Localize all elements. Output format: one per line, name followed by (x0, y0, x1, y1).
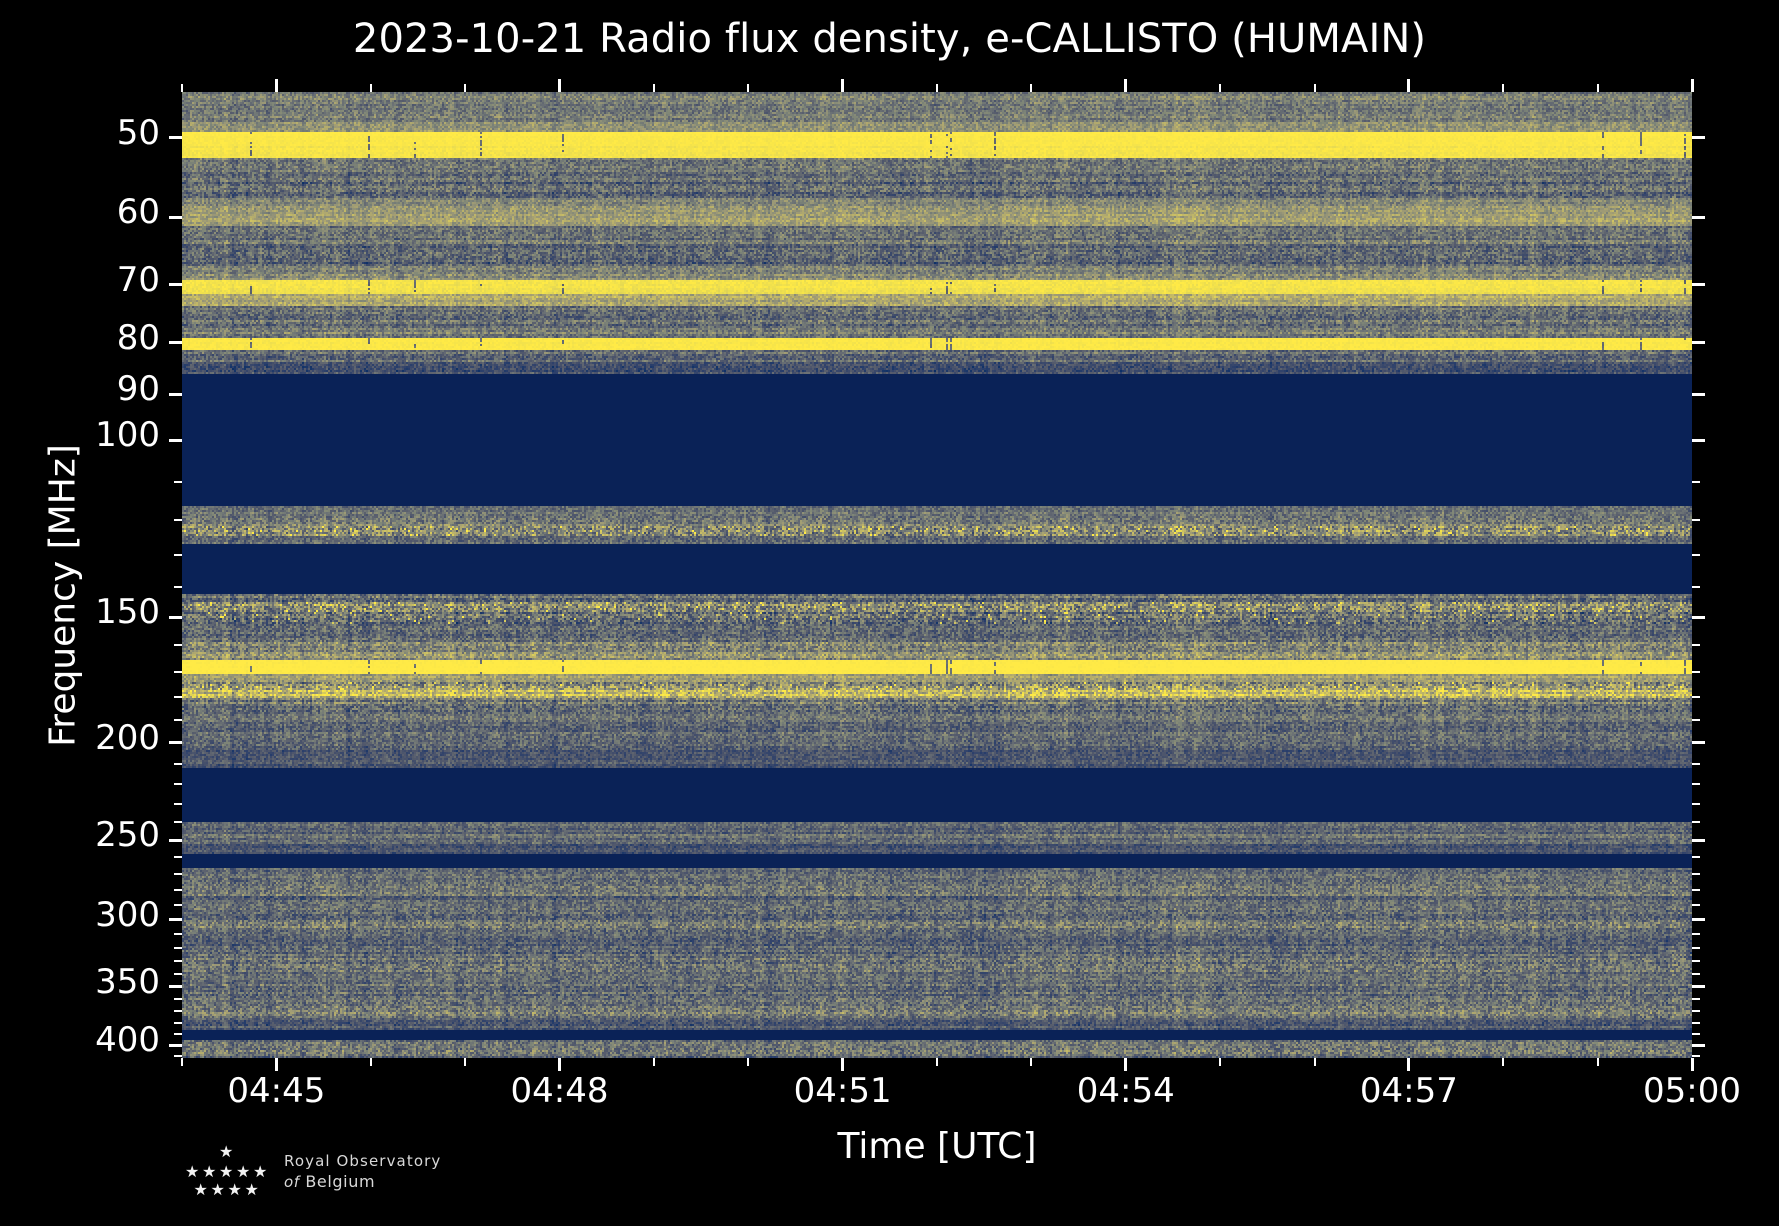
y-minor-tick-right-110 (1692, 481, 1700, 483)
y-minor-tick-right-180 (1692, 696, 1700, 698)
y-tick-label-400: 400 (95, 1023, 160, 1057)
y-tick-right-200 (1692, 741, 1705, 744)
x-minor-tick-top-04:47 (464, 84, 466, 92)
y-minor-tick-right-160 (1692, 644, 1700, 646)
x-minor-tick-04:59 (1597, 1058, 1599, 1066)
y-minor-tick-right-370 (1692, 1010, 1700, 1012)
x-minor-tick-top-04:44 (181, 84, 183, 92)
y-minor-tick-160 (174, 644, 182, 646)
y-tick-50 (169, 136, 182, 139)
y-minor-tick-330 (174, 960, 182, 962)
page-title: 2023-10-21 Radio flux density, e-CALLIST… (0, 16, 1779, 62)
x-minor-tick-04:44 (181, 1058, 183, 1066)
y-minor-tick-120 (174, 519, 182, 521)
y-minor-tick-right-240 (1692, 821, 1700, 823)
x-minor-tick-04:46 (370, 1058, 372, 1066)
y-minor-tick-right-270 (1692, 873, 1700, 875)
logo-of-word: of (284, 1173, 300, 1191)
eu-stars-icon: ★★★★★★★★★★ (178, 1144, 270, 1200)
x-minor-tick-04:56 (1314, 1058, 1316, 1066)
star-icon: ★ (253, 1164, 267, 1180)
x-minor-tick-top-04:49 (653, 84, 655, 92)
y-tick-label-150: 150 (95, 595, 160, 629)
y-minor-tick-right-210 (1692, 763, 1700, 765)
x-tick-top-04:54 (1124, 79, 1127, 92)
y-tick-label-350: 350 (95, 965, 160, 999)
star-icon: ★ (185, 1164, 199, 1180)
x-minor-tick-top-04:58 (1502, 84, 1504, 92)
y-tick-250 (169, 839, 182, 842)
y-minor-tick-right-120 (1692, 519, 1700, 521)
y-tick-200 (169, 741, 182, 744)
y-minor-tick-right-170 (1692, 671, 1700, 673)
x-minor-tick-top-04:52 (936, 84, 938, 92)
star-icon: ★ (219, 1144, 233, 1160)
y-tick-label-50: 50 (117, 116, 160, 150)
x-tick-top-04:48 (558, 79, 561, 92)
y-minor-tick-right-140 (1692, 586, 1700, 588)
y-minor-tick-370 (174, 1010, 182, 1012)
y-minor-tick-130 (174, 554, 182, 556)
x-tick-label-04:51: 04:51 (753, 1074, 933, 1108)
y-tick-right-80 (1692, 341, 1705, 344)
logo-belgium-word: Belgium (305, 1172, 375, 1191)
x-tick-label-04:54: 04:54 (1036, 1074, 1216, 1108)
x-tick-label-04:48: 04:48 (470, 1074, 650, 1108)
y-minor-tick-right-280 (1692, 889, 1700, 891)
star-icon: ★ (228, 1182, 242, 1198)
y-tick-label-250: 250 (95, 818, 160, 852)
x-tick-04:48 (558, 1058, 561, 1071)
x-minor-tick-top-04:55 (1219, 84, 1221, 92)
y-tick-right-150 (1692, 616, 1705, 619)
y-tick-label-60: 60 (117, 195, 160, 229)
y-minor-tick-right-360 (1692, 998, 1700, 1000)
y-minor-tick-right-130 (1692, 554, 1700, 556)
x-tick-top-04:45 (275, 79, 278, 92)
y-minor-tick-110 (174, 481, 182, 483)
x-minor-tick-04:47 (464, 1058, 466, 1066)
y-tick-label-100: 100 (95, 418, 160, 452)
y-tick-right-300 (1692, 918, 1705, 921)
y-tick-label-90: 90 (117, 372, 160, 406)
y-minor-tick-180 (174, 696, 182, 698)
y-minor-tick-360 (174, 998, 182, 1000)
x-minor-tick-04:52 (936, 1058, 938, 1066)
x-tick-top-04:51 (841, 79, 844, 92)
x-tick-05:00 (1691, 1058, 1694, 1071)
spectrogram-image[interactable] (182, 92, 1692, 1058)
spectrogram-axes[interactable] (182, 92, 1692, 1058)
y-tick-right-400 (1692, 1044, 1705, 1047)
x-tick-top-04:57 (1407, 79, 1410, 92)
y-tick-100 (169, 439, 182, 442)
y-tick-right-60 (1692, 216, 1705, 219)
royal-observatory-logo: ★★★★★★★★★★ Royal Observatory of Belgium (178, 1144, 441, 1200)
y-tick-90 (169, 393, 182, 396)
logo-text: Royal Observatory of Belgium (284, 1152, 441, 1193)
y-minor-tick-390 (174, 1033, 182, 1035)
y-axis-title: Frequency [MHz] (43, 113, 84, 1079)
y-tick-label-200: 200 (95, 721, 160, 755)
x-minor-tick-04:58 (1502, 1058, 1504, 1066)
y-minor-tick-230 (174, 803, 182, 805)
x-minor-tick-04:49 (653, 1058, 655, 1066)
y-minor-tick-right-410 (1692, 1055, 1700, 1057)
y-minor-tick-right-310 (1692, 933, 1700, 935)
y-minor-tick-right-230 (1692, 803, 1700, 805)
x-tick-04:54 (1124, 1058, 1127, 1071)
logo-line-2: of Belgium (284, 1172, 441, 1191)
y-minor-tick-240 (174, 821, 182, 823)
y-minor-tick-290 (174, 904, 182, 906)
star-icon: ★ (211, 1182, 225, 1198)
y-minor-tick-210 (174, 763, 182, 765)
y-minor-tick-220 (174, 783, 182, 785)
y-tick-300 (169, 918, 182, 921)
y-tick-80 (169, 341, 182, 344)
y-tick-right-50 (1692, 136, 1705, 139)
x-minor-tick-top-04:50 (747, 84, 749, 92)
y-minor-tick-270 (174, 873, 182, 875)
y-tick-right-90 (1692, 393, 1705, 396)
y-minor-tick-410 (174, 1055, 182, 1057)
y-minor-tick-right-220 (1692, 783, 1700, 785)
y-tick-150 (169, 616, 182, 619)
logo-line-1: Royal Observatory (284, 1152, 441, 1170)
y-tick-right-250 (1692, 839, 1705, 842)
x-minor-tick-04:53 (1030, 1058, 1032, 1066)
x-tick-04:51 (841, 1058, 844, 1071)
y-tick-60 (169, 216, 182, 219)
y-minor-tick-340 (174, 973, 182, 975)
x-minor-tick-top-04:53 (1030, 84, 1032, 92)
star-icon: ★ (194, 1182, 208, 1198)
y-tick-right-70 (1692, 283, 1705, 286)
x-minor-tick-04:55 (1219, 1058, 1221, 1066)
y-tick-70 (169, 283, 182, 286)
star-icon: ★ (219, 1164, 233, 1180)
y-minor-tick-right-260 (1692, 856, 1700, 858)
y-minor-tick-right-390 (1692, 1033, 1700, 1035)
y-tick-right-350 (1692, 985, 1705, 988)
x-tick-label-05:00: 05:00 (1602, 1074, 1779, 1108)
x-tick-label-04:57: 04:57 (1319, 1074, 1499, 1108)
y-minor-tick-right-290 (1692, 904, 1700, 906)
y-minor-tick-right-340 (1692, 973, 1700, 975)
y-tick-label-80: 80 (117, 321, 160, 355)
spectrogram-figure: 2023-10-21 Radio flux density, e-CALLIST… (0, 0, 1779, 1226)
y-minor-tick-140 (174, 586, 182, 588)
y-minor-tick-190 (174, 719, 182, 721)
x-tick-04:57 (1407, 1058, 1410, 1071)
y-minor-tick-right-320 (1692, 947, 1700, 949)
y-tick-350 (169, 985, 182, 988)
x-minor-tick-top-04:46 (370, 84, 372, 92)
y-minor-tick-170 (174, 671, 182, 673)
y-tick-label-300: 300 (95, 898, 160, 932)
x-tick-label-04:45: 04:45 (186, 1074, 366, 1108)
star-icon: ★ (245, 1182, 259, 1198)
x-tick-top-05:00 (1691, 79, 1694, 92)
x-minor-tick-04:50 (747, 1058, 749, 1066)
y-minor-tick-310 (174, 933, 182, 935)
x-minor-tick-top-04:59 (1597, 84, 1599, 92)
x-minor-tick-top-04:56 (1314, 84, 1316, 92)
y-minor-tick-280 (174, 889, 182, 891)
x-tick-04:45 (275, 1058, 278, 1071)
star-icon: ★ (236, 1164, 250, 1180)
y-minor-tick-right-330 (1692, 960, 1700, 962)
y-minor-tick-380 (174, 1022, 182, 1024)
y-tick-label-70: 70 (117, 263, 160, 297)
y-tick-right-100 (1692, 439, 1705, 442)
y-minor-tick-right-190 (1692, 719, 1700, 721)
y-minor-tick-right-380 (1692, 1022, 1700, 1024)
y-minor-tick-260 (174, 856, 182, 858)
star-icon: ★ (202, 1164, 216, 1180)
y-minor-tick-320 (174, 947, 182, 949)
y-tick-400 (169, 1044, 182, 1047)
